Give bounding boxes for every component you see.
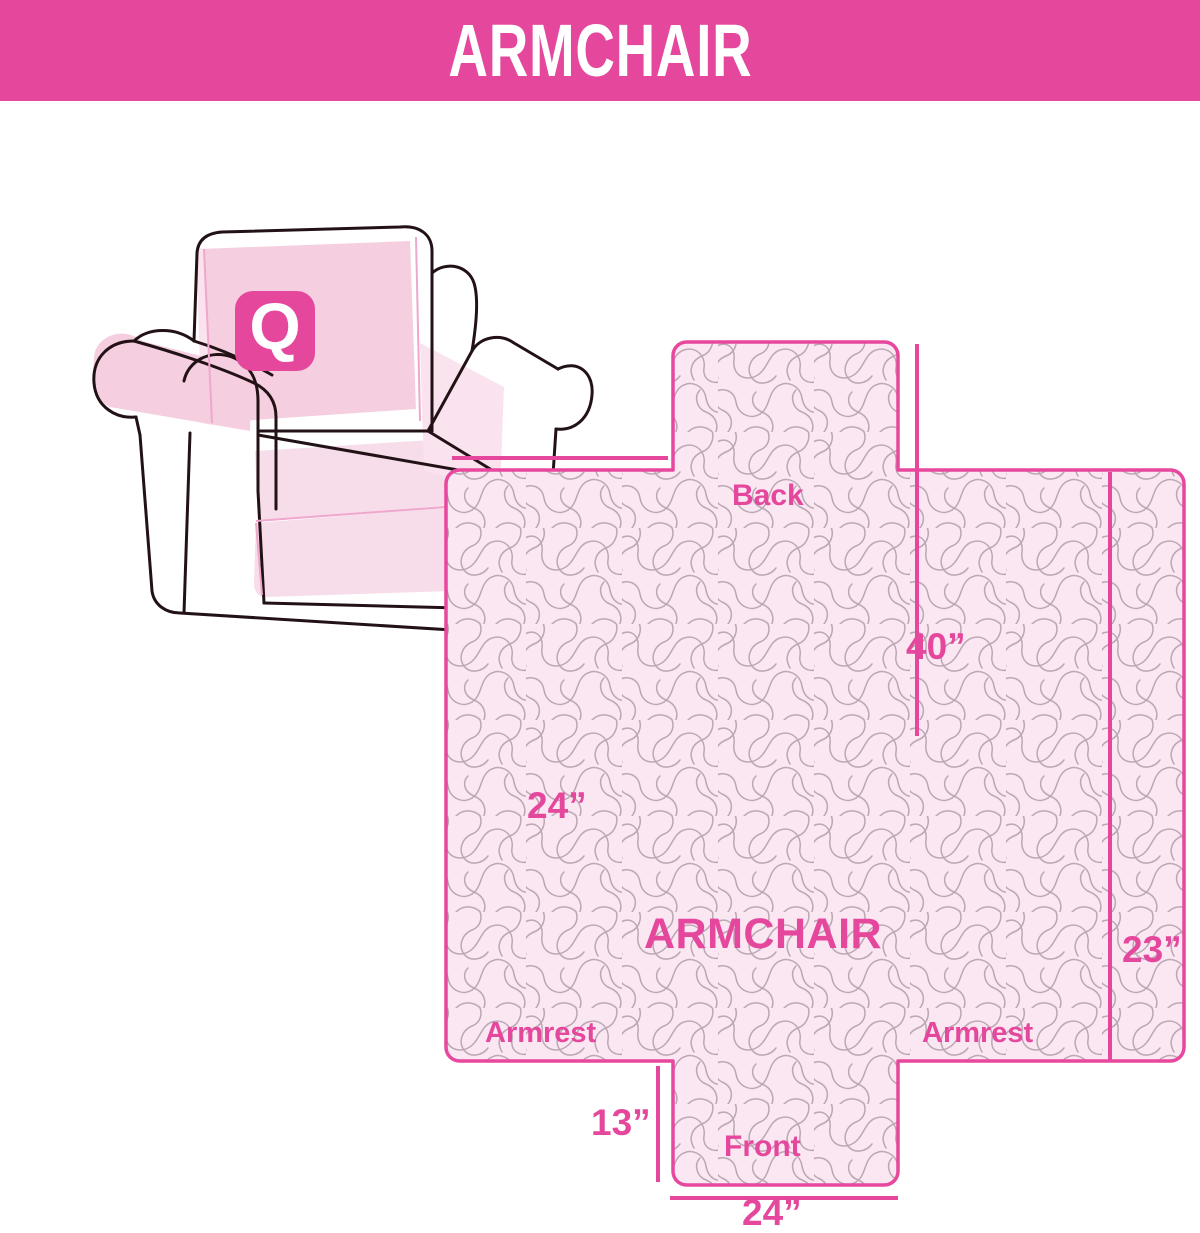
dimension-label-armrest-width: 24” xyxy=(527,787,587,824)
logo-letter-q: Q xyxy=(249,289,300,363)
cover-fabric-body xyxy=(430,336,1200,1196)
brand-logo: Q xyxy=(235,289,315,371)
panel-label-front: Front xyxy=(724,1132,801,1162)
panel-label-back: Back xyxy=(732,481,804,511)
cover-center-label: ARMCHAIR xyxy=(644,913,882,956)
cover-cross-diagram xyxy=(430,336,1200,1196)
panel-label-armrest-right: Armrest xyxy=(922,1019,1033,1048)
panel-label-armrest-left: Armrest xyxy=(485,1019,596,1048)
dimension-label-seat-depth: 23” xyxy=(1122,931,1182,968)
dimension-label-front-height: 13” xyxy=(591,1104,651,1141)
page-title: ARMCHAIR xyxy=(448,14,752,88)
main-canvas: Q xyxy=(0,101,1200,1200)
dimension-label-back-height: 40” xyxy=(906,628,966,665)
header-banner: ARMCHAIR xyxy=(0,0,1200,101)
